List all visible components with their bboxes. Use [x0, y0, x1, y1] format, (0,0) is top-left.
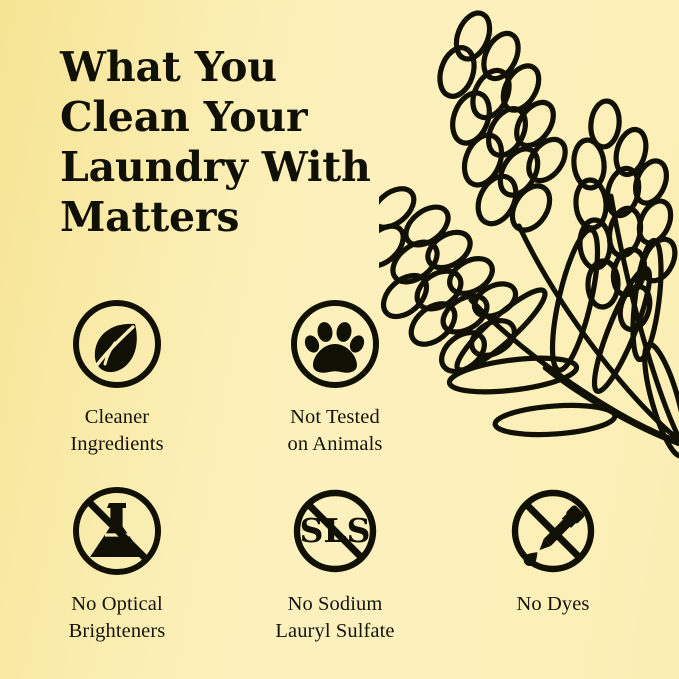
benefit-row-top: Cleaner Ingredients — [0, 296, 679, 457]
product-benefits-poster: What You Clean Your Laundry With Matters… — [0, 0, 679, 679]
benefit-caption: Not Tested on Animals — [288, 404, 383, 457]
benefit-caption: No Dyes — [516, 591, 589, 618]
headline-line-4: Matters — [60, 192, 400, 242]
leaf-icon — [69, 296, 165, 392]
caption-line-2: Ingredients — [70, 431, 163, 458]
no-flask-icon — [69, 483, 165, 579]
caption-line-2: Brighteners — [69, 618, 166, 645]
benefit-no-sls: SLS No Sodium Lauryl Sulfate — [226, 483, 444, 644]
caption-line-2: on Animals — [288, 431, 383, 458]
no-sls-icon: SLS — [287, 483, 383, 579]
caption-line-1: Not Tested — [288, 404, 383, 431]
benefit-no-dyes: No Dyes — [444, 483, 662, 618]
paw-print-icon — [287, 296, 383, 392]
caption-line-2: Lauryl Sulfate — [275, 618, 394, 645]
benefit-not-tested-on-animals: Not Tested on Animals — [226, 296, 444, 457]
benefit-badge-grid: Cleaner Ingredients — [0, 296, 679, 645]
headline-line-3: Laundry With — [60, 142, 400, 192]
headline-line-1: What You — [60, 42, 400, 92]
caption-line-1: Cleaner — [70, 404, 163, 431]
benefit-cleaner-ingredients: Cleaner Ingredients — [8, 296, 226, 457]
no-dropper-icon — [505, 483, 601, 579]
benefit-caption: No Sodium Lauryl Sulfate — [275, 591, 394, 644]
benefit-caption: Cleaner Ingredients — [70, 404, 163, 457]
caption-line-1: No Dyes — [516, 591, 589, 618]
benefit-no-optical-brighteners: No Optical Brighteners — [8, 483, 226, 644]
caption-line-1: No Sodium — [275, 591, 394, 618]
benefit-row-bottom: No Optical Brighteners SLS No Sodium Lau… — [0, 483, 679, 644]
benefit-caption: No Optical Brighteners — [69, 591, 166, 644]
page-title: What You Clean Your Laundry With Matters — [60, 42, 400, 242]
caption-line-1: No Optical — [69, 591, 166, 618]
headline-line-2: Clean Your — [60, 92, 400, 142]
